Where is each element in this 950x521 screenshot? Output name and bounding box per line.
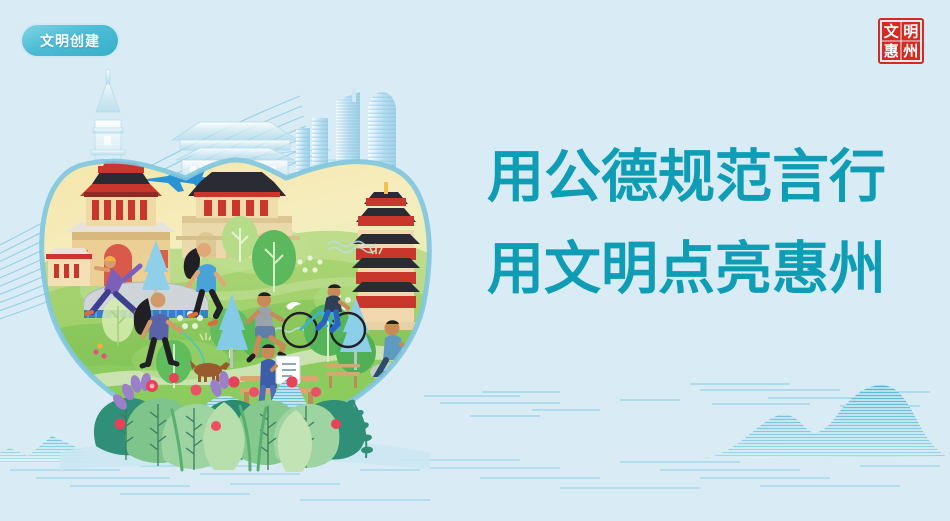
- headline-line-2: 用文明点亮惠州: [487, 223, 907, 315]
- headline-block: 用公德规范言行 用文明点亮惠州: [487, 131, 907, 315]
- wenming-chuangjian-badge[interactable]: 文明创建: [22, 25, 118, 56]
- seal-char-ming: 明: [903, 23, 918, 41]
- foliage-cluster-icon: [94, 364, 373, 472]
- seal-char-zhou: 州: [902, 42, 918, 60]
- seal-char-hui: 惠: [884, 42, 899, 60]
- headline-line-1: 用公德规范言行: [487, 131, 907, 223]
- wenming-huizhou-seal-logo[interactable]: 文 明 惠 州: [878, 18, 924, 64]
- park-bench-icon: [326, 364, 360, 388]
- poster-canvas: 文明创建 文 明 惠 州 用公德规范言行 用文明点亮惠州: [0, 0, 950, 521]
- line-art-mountain-right-icon: [700, 385, 946, 458]
- water-lines-icon: [10, 460, 940, 500]
- badge-label: 文明创建: [40, 34, 100, 48]
- seal-char-wen: 文: [884, 23, 900, 41]
